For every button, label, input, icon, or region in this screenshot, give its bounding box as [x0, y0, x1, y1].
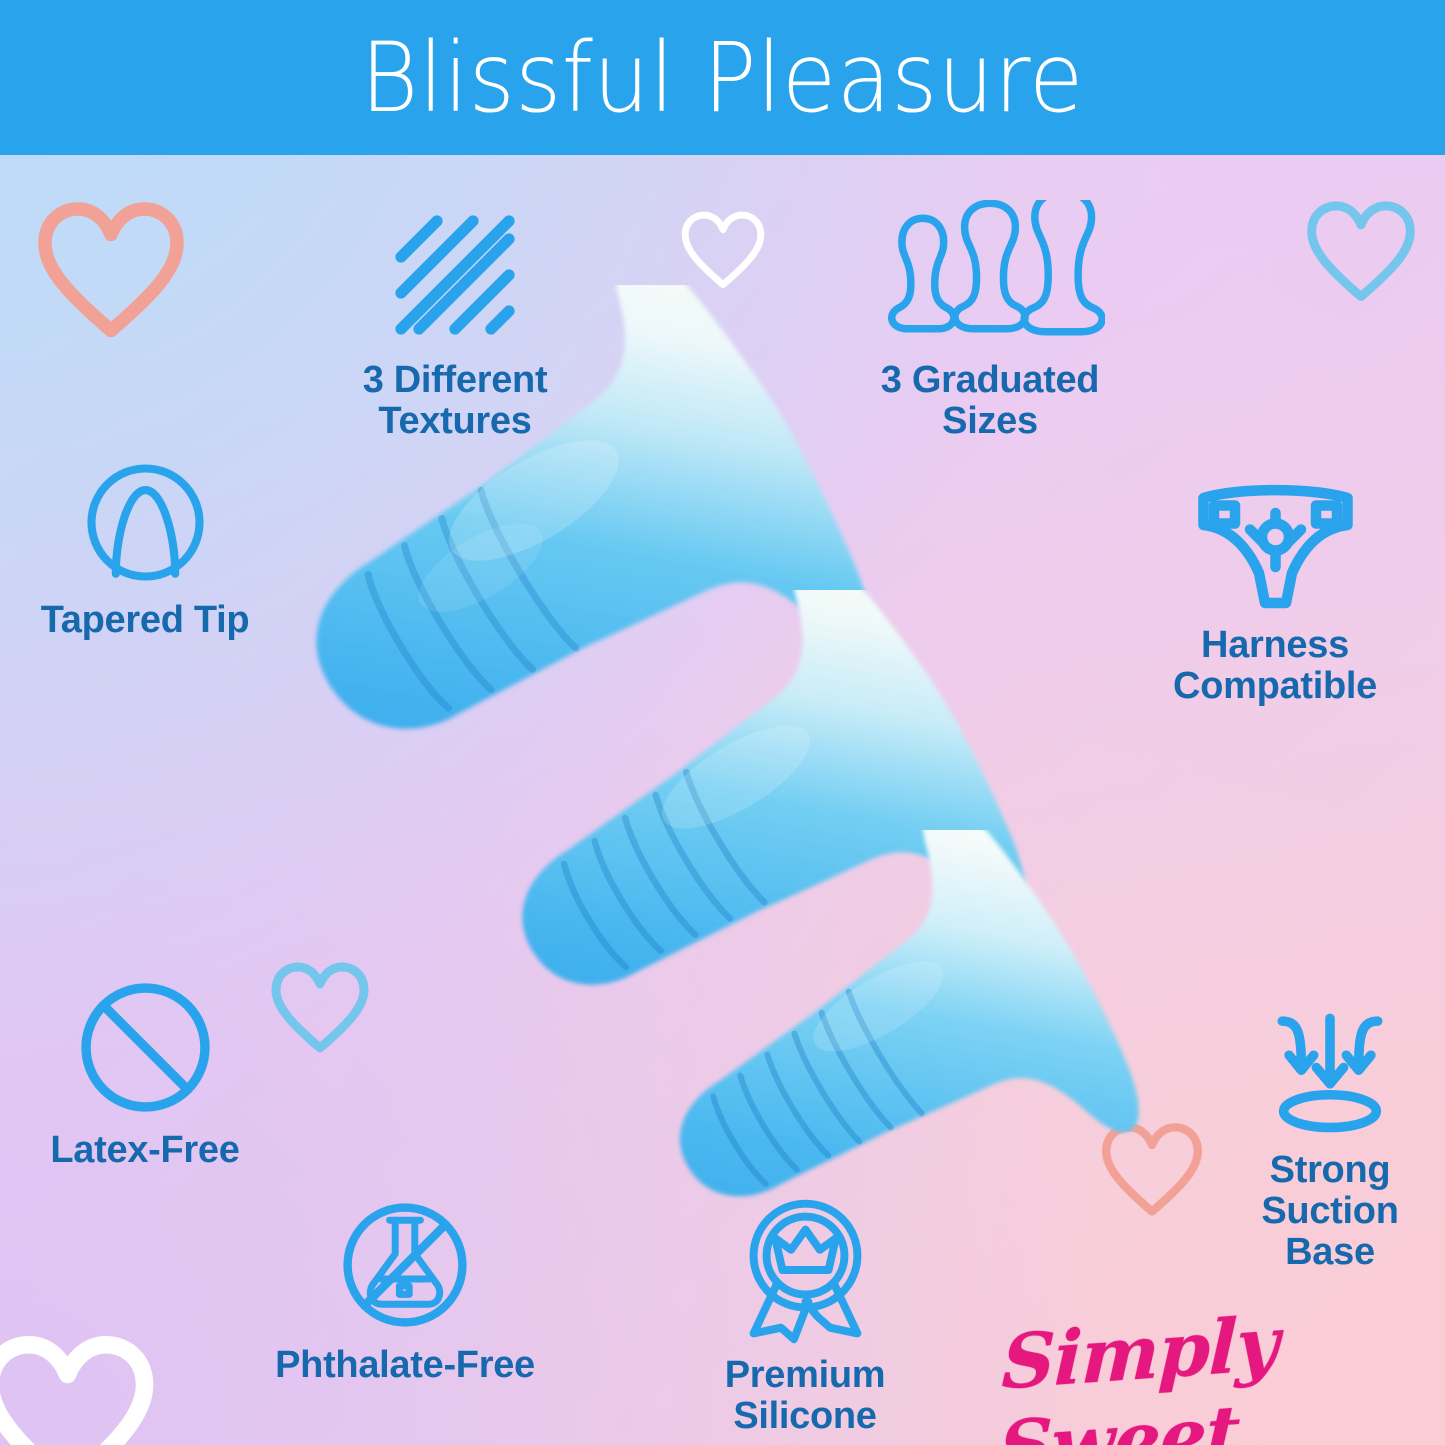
- feature-textures: 3 Different Textures: [320, 200, 590, 442]
- header-banner: Blissful Pleasure: [0, 0, 1445, 155]
- feature-phthalate-free: Phthalate-Free: [270, 1195, 540, 1386]
- feature-label: Premium Silicone: [725, 1355, 886, 1437]
- white-heart-icon: [0, 1330, 155, 1445]
- harness-icon: [1193, 480, 1358, 615]
- feature-label: Phthalate-Free: [275, 1345, 535, 1386]
- feature-label: 3 Graduated Sizes: [881, 360, 1099, 442]
- tapered-tip-icon: [78, 455, 213, 590]
- blue-heart-icon: [1305, 196, 1417, 312]
- coral-heart-icon: [36, 196, 186, 351]
- feature-sizes: 3 Graduated Sizes: [855, 200, 1125, 442]
- no-flask-icon: [335, 1195, 475, 1335]
- blue-heart-icon: [270, 958, 370, 1062]
- page-title: Blissful Pleasure: [361, 30, 1084, 126]
- feature-harness-compatible: Harness Compatible: [1140, 480, 1410, 707]
- diagonal-stripes-icon: [380, 200, 530, 350]
- feature-label: Strong Suction Base: [1261, 1150, 1398, 1273]
- feature-strong-suction-base: Strong Suction Base: [1195, 1010, 1445, 1273]
- feature-label: 3 Different Textures: [363, 360, 548, 442]
- white-heart-icon: [680, 208, 766, 296]
- award-crown-icon: [733, 1195, 878, 1345]
- feature-label: Latex-Free: [50, 1130, 239, 1171]
- suction-arrows-icon: [1255, 1010, 1405, 1140]
- feature-premium-silicone: Premium Silicone: [670, 1195, 940, 1437]
- feature-label: Harness Compatible: [1173, 625, 1377, 707]
- prohibition-icon: [73, 975, 218, 1120]
- feature-tapered-tip: Tapered Tip: [10, 455, 280, 641]
- feature-label: Tapered Tip: [41, 600, 250, 641]
- feature-latex-free: Latex-Free: [10, 975, 280, 1171]
- three-plugs-icon: [875, 200, 1105, 350]
